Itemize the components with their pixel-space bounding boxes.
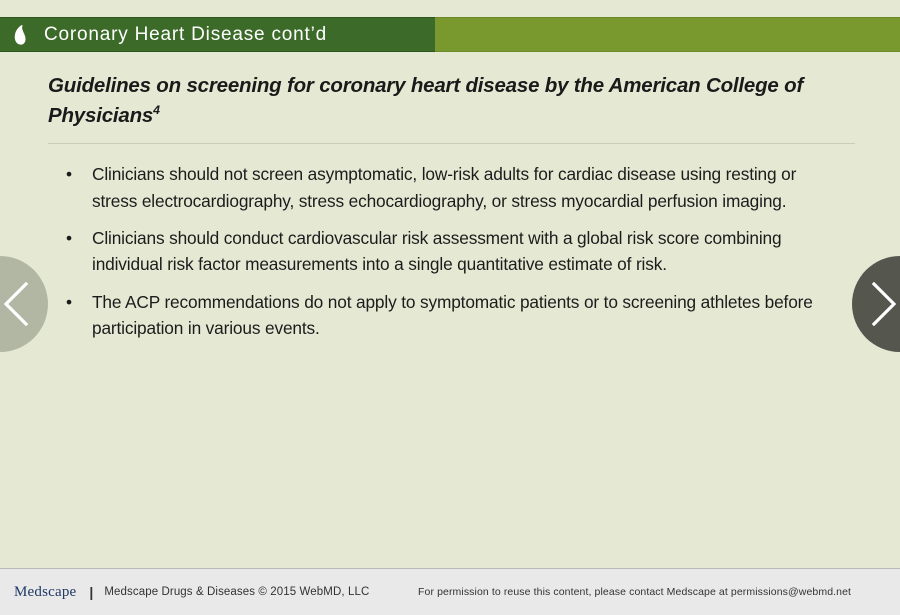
chevron-left-icon [2,281,32,327]
slide-footer: Medscape | Medscape Drugs & Diseases © 2… [0,568,900,615]
bullet-marker: • [66,161,72,187]
slide-header-bar: Coronary Heart Disease cont’d [0,17,900,52]
footer-permission-notice: For permission to reuse this content, pl… [418,586,851,598]
page-title: Guidelines on screening for coronary hea… [0,52,900,130]
medscape-logo[interactable]: Medscape [14,584,76,601]
slide-header-title: Coronary Heart Disease cont’d [44,24,327,46]
flame-bullet-icon [13,25,27,45]
footer-separator: | [89,584,93,600]
list-item-text: Clinicians should conduct cardiovascular… [92,228,781,274]
bullet-list: • Clinicians should not screen asymptoma… [0,144,900,341]
presentation-slide: Coronary Heart Disease cont’d Guidelines… [0,0,900,615]
list-item-text: The ACP recommendations do not apply to … [92,292,813,338]
slide-header-bar-light-segment [435,17,900,52]
footer-copyright: Medscape Drugs & Diseases © 2015 WebMD, … [104,586,369,598]
chevron-right-icon [868,281,898,327]
list-item: • The ACP recommendations do not apply t… [0,289,900,342]
bullet-marker: • [66,225,72,251]
slide-header-bar-dark-segment: Coronary Heart Disease cont’d [0,17,435,52]
list-item: • Clinicians should not screen asymptoma… [0,161,900,214]
slide-content: Guidelines on screening for coronary hea… [0,52,900,352]
list-item-text: Clinicians should not screen asymptomati… [92,164,796,210]
list-item: • Clinicians should conduct cardiovascul… [0,225,900,278]
page-title-superscript: 4 [153,103,160,117]
bullet-marker: • [66,289,72,315]
page-title-text: Guidelines on screening for coronary hea… [48,74,803,127]
